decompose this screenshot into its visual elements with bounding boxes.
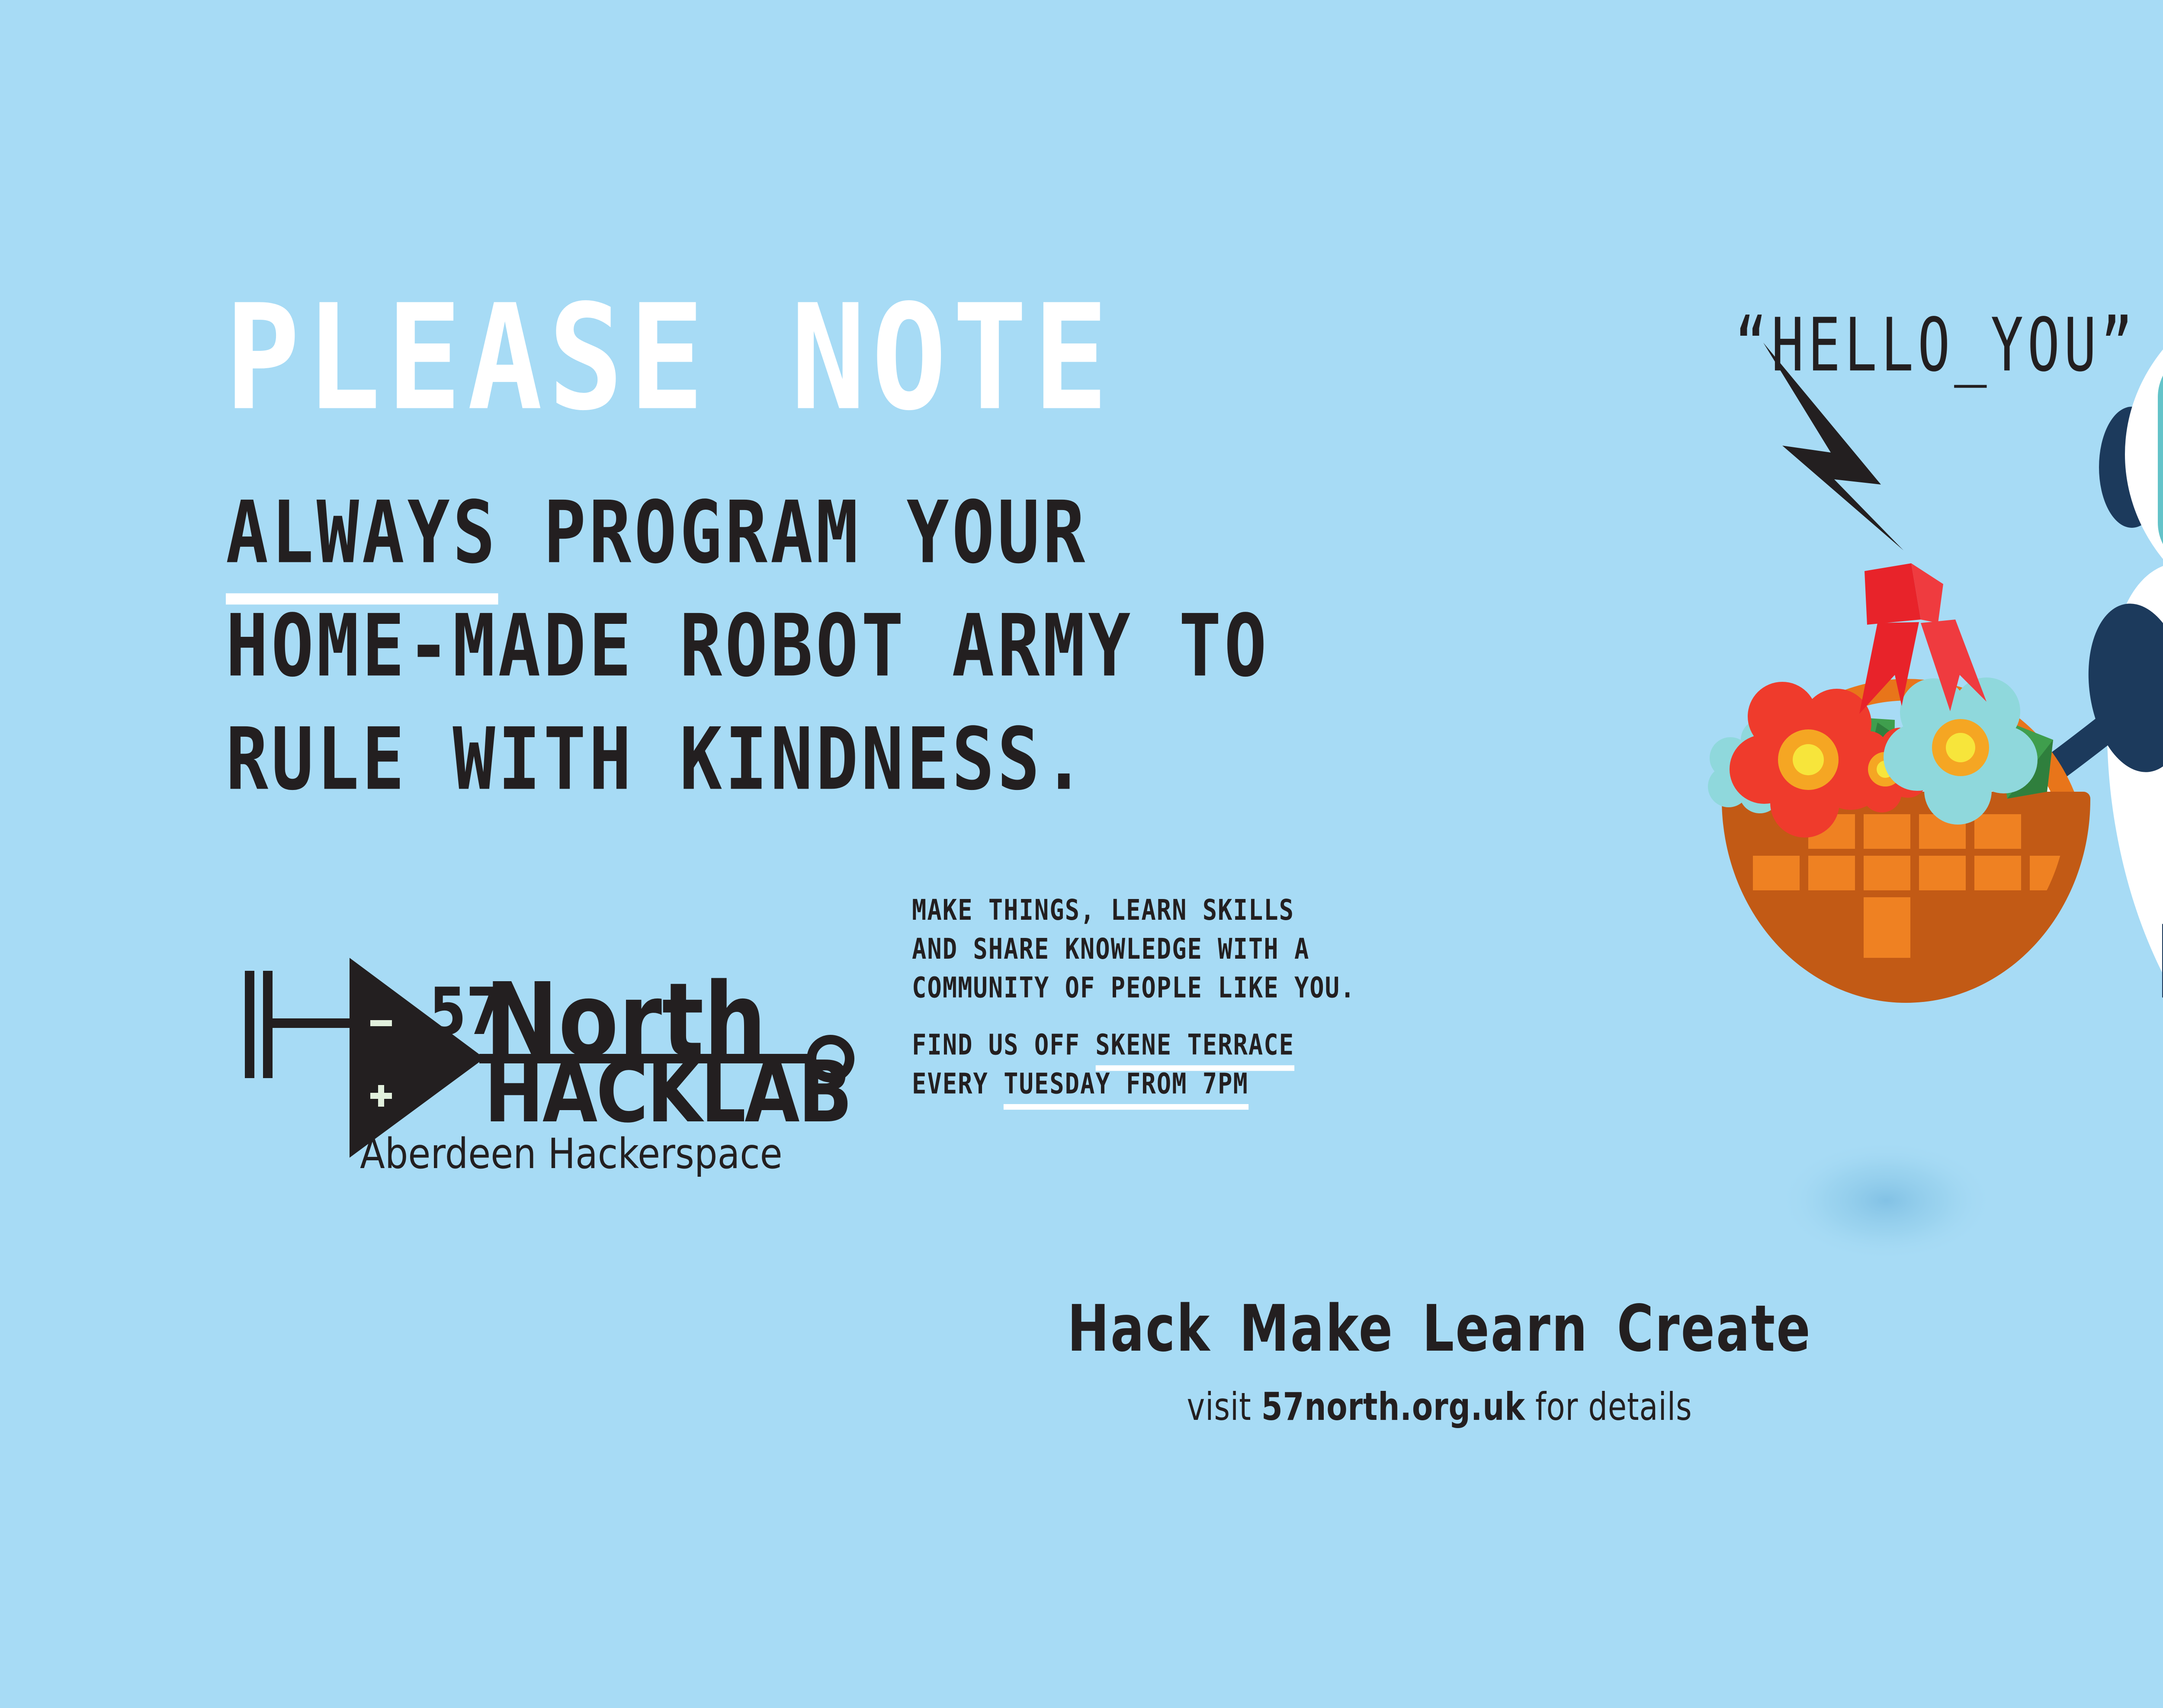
subhead-line-1-rest: PROGRAM YOUR [498,482,1088,582]
visit-line: visit 57north.org.uk for details [288,1384,2163,1429]
input-wire [268,1018,350,1028]
visit-prefix: visit [1187,1384,1261,1429]
strap-word-learn: Learn [1422,1291,1589,1366]
57north-hacklab-logo: 57 North HACKLAB Aberdeen Hackerspace [242,926,900,1185]
logo-tagline: Aberdeen Hackerspace [360,1130,783,1178]
opamp-minus-sign [370,1020,392,1026]
body-line-5-time: TUESDAY FROM 7PM [1004,1065,1248,1104]
robot-illustration [1678,242,2163,1332]
body-line-4: FIND US OFF SKENE TERRACE [912,1026,1355,1065]
strap-word-hack: Hack [1067,1291,1211,1366]
body-line-5-prefix: EVERY [912,1067,1004,1101]
logo-word-hacklab: HACKLAB [484,1043,851,1141]
opamp-plus-sign-vertical [378,1085,384,1107]
capacitor-plate-left [245,971,254,1078]
body-line-2: AND SHARE KNOWLEDGE WITH A [912,930,1355,969]
subhead-emphasis-always: ALWAYS [226,476,498,589]
subhead-line-3: RULE WITH KINDNESS. [226,703,1270,816]
visit-domain[interactable]: 57north.org.uk [1261,1384,1525,1429]
body-copy: MAKE THINGS, LEARN SKILLS AND SHARE KNOW… [912,891,1355,1104]
strap-word-make: Make [1239,1291,1394,1366]
lightning-bolt-icon [1763,343,1903,550]
visit-suffix: for details [1525,1384,1692,1429]
body-line-4-prefix: FIND US OFF [912,1028,1095,1062]
flower-center-yellow [1793,744,1824,775]
subhead-line-2: HOME-MADE ROBOT ARMY TO [226,589,1270,703]
poster-canvas: PLEASE NOTE ALWAYS PROGRAM YOUR HOME-MAD… [0,0,2163,1708]
subheadline: ALWAYS PROGRAM YOUR HOME-MADE ROBOT ARMY… [226,476,1270,816]
body-line-4-address: SKENE TERRACE [1095,1026,1294,1065]
page-title: PLEASE NOTE [225,286,1114,431]
body-spacer [912,1008,1355,1026]
basket-shadow [1778,1140,1994,1261]
body-line-1: MAKE THINGS, LEARN SKILLS [912,891,1355,930]
body-line-3: COMMUNITY OF PEOPLE LIKE YOU. [912,969,1355,1008]
subhead-line-1: ALWAYS PROGRAM YOUR [226,476,1270,589]
